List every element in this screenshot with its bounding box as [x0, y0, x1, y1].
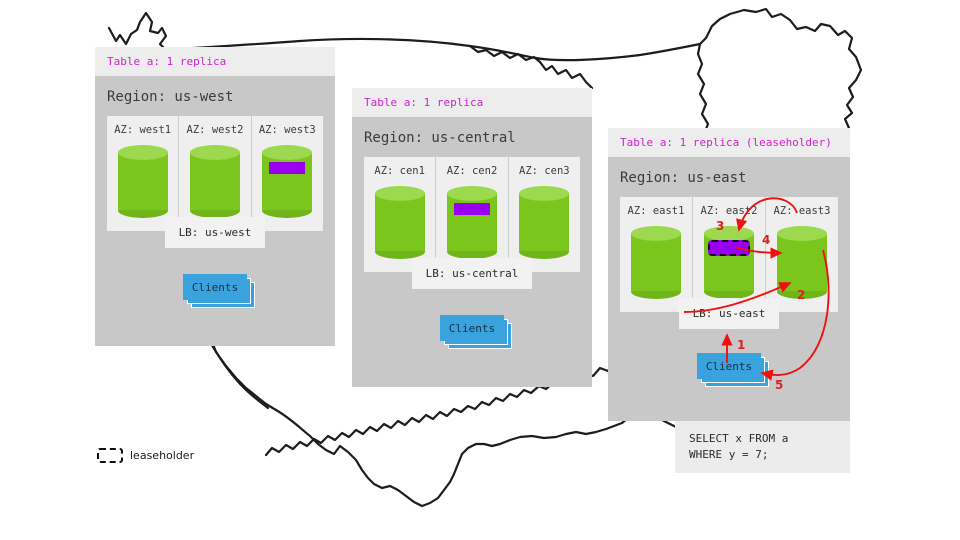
az-label: AZ: west2 — [187, 124, 244, 136]
clients-label[interactable]: Clients — [697, 353, 761, 379]
az-cen1[interactable]: AZ: cen1 — [364, 157, 436, 272]
cylinder-top — [631, 226, 681, 241]
step-number-1: 1 — [737, 338, 745, 352]
cylinder-icon — [631, 226, 681, 298]
az-row-us-central: AZ: cen1 AZ: cen2 — [364, 157, 580, 272]
node-cylinder-cen1[interactable] — [375, 186, 425, 258]
region-title-us-west: Table a: 1 replica — [95, 47, 335, 76]
region-panel-us-central: Table a: 1 replica Region: us-central AZ… — [352, 88, 592, 387]
region-name-us-east: Region: us-east — [608, 157, 850, 197]
az-label: AZ: cen3 — [519, 165, 570, 177]
cylinder-icon — [262, 145, 312, 217]
cylinder-body — [519, 193, 569, 251]
step-number-4: 4 — [762, 233, 770, 247]
region-body-us-west: Region: us-west AZ: west1 AZ: west2 — [95, 76, 335, 346]
az-east1[interactable]: AZ: east1 — [620, 197, 693, 312]
az-label: AZ: cen1 — [374, 165, 425, 177]
cylinder-icon — [190, 145, 240, 217]
cylinder-top — [375, 186, 425, 201]
load-balancer-us-west[interactable]: LB: us-west — [165, 217, 266, 248]
node-cylinder-east1[interactable] — [631, 226, 681, 298]
sql-query-box: SELECT x FROM a WHERE y = 7; — [675, 421, 850, 473]
cylinder-icon — [704, 226, 754, 298]
cylinder-icon — [118, 145, 168, 217]
load-balancer-us-east[interactable]: LB: us-east — [679, 298, 780, 329]
az-west3[interactable]: AZ: west3 — [252, 116, 323, 231]
cylinder-body — [631, 233, 681, 291]
az-west1[interactable]: AZ: west1 — [107, 116, 179, 231]
cylinder-top — [447, 186, 497, 201]
az-label: AZ: east2 — [701, 205, 758, 217]
node-cylinder-east2[interactable] — [704, 226, 754, 298]
cylinder-top — [519, 186, 569, 201]
node-cylinder-cen2[interactable] — [447, 186, 497, 258]
clients-label[interactable]: Clients — [183, 274, 247, 300]
region-title-us-east: Table a: 1 replica (leaseholder) — [608, 128, 850, 157]
leaseholder-swatch-icon — [97, 448, 123, 463]
region-panel-us-east: Table a: 1 replica (leaseholder) Region:… — [608, 128, 850, 473]
cylinder-top — [190, 145, 240, 160]
az-label: AZ: west1 — [114, 124, 171, 136]
cylinder-body — [375, 193, 425, 251]
cylinder-top — [777, 226, 827, 241]
region-panel-us-west: Table a: 1 replica Region: us-west AZ: w… — [95, 47, 335, 346]
clients-row-us-west: Clients — [95, 274, 335, 300]
replica-marker-west3 — [269, 162, 305, 174]
region-name-us-central: Region: us-central — [352, 117, 592, 157]
region-name-us-west: Region: us-west — [95, 76, 335, 116]
cylinder-body — [262, 152, 312, 210]
clients-stack-us-east[interactable]: Clients — [697, 353, 761, 379]
az-row-us-west: AZ: west1 AZ: west2 — [107, 116, 323, 231]
clients-row-us-east: Clients — [608, 353, 850, 379]
az-label: AZ: cen2 — [447, 165, 498, 177]
az-east2[interactable]: AZ: east2 — [693, 197, 766, 312]
cylinder-icon — [375, 186, 425, 258]
cylinder-body — [777, 233, 827, 291]
node-cylinder-cen3[interactable] — [519, 186, 569, 258]
node-cylinder-west3[interactable] — [262, 145, 312, 217]
replica-marker-cen2 — [454, 203, 490, 215]
diagram-canvas: Table a: 1 replica Region: us-west AZ: w… — [0, 0, 960, 540]
step-number-2: 2 — [797, 288, 805, 302]
az-cen3[interactable]: AZ: cen3 — [509, 157, 580, 272]
cylinder-top — [704, 226, 754, 241]
clients-stack-us-central[interactable]: Clients — [440, 315, 504, 341]
cylinder-body — [447, 193, 497, 251]
az-label: AZ: east1 — [628, 205, 685, 217]
cylinder-top — [118, 145, 168, 160]
clients-label[interactable]: Clients — [440, 315, 504, 341]
clients-row-us-central: Clients — [352, 315, 592, 341]
node-cylinder-west2[interactable] — [190, 145, 240, 217]
cylinder-icon — [447, 186, 497, 258]
legend: leaseholder — [97, 448, 194, 463]
leaseholder-replica-marker-east2 — [708, 240, 750, 256]
legend-label: leaseholder — [130, 449, 194, 462]
cylinder-body — [118, 152, 168, 210]
az-west2[interactable]: AZ: west2 — [179, 116, 251, 231]
cylinder-icon — [519, 186, 569, 258]
node-cylinder-west1[interactable] — [118, 145, 168, 217]
az-cen2[interactable]: AZ: cen2 — [436, 157, 508, 272]
region-body-us-east: Region: us-east AZ: east1 AZ: east2 — [608, 157, 850, 421]
cylinder-top — [262, 145, 312, 160]
region-title-us-central: Table a: 1 replica — [352, 88, 592, 117]
cylinder-body — [190, 152, 240, 210]
az-label: AZ: west3 — [259, 124, 316, 136]
step-number-5: 5 — [775, 378, 783, 392]
region-body-us-central: Region: us-central AZ: cen1 AZ: cen2 — [352, 117, 592, 387]
az-label: AZ: east3 — [774, 205, 831, 217]
clients-stack-us-west[interactable]: Clients — [183, 274, 247, 300]
load-balancer-us-central[interactable]: LB: us-central — [412, 258, 533, 289]
step-number-3: 3 — [716, 219, 724, 233]
